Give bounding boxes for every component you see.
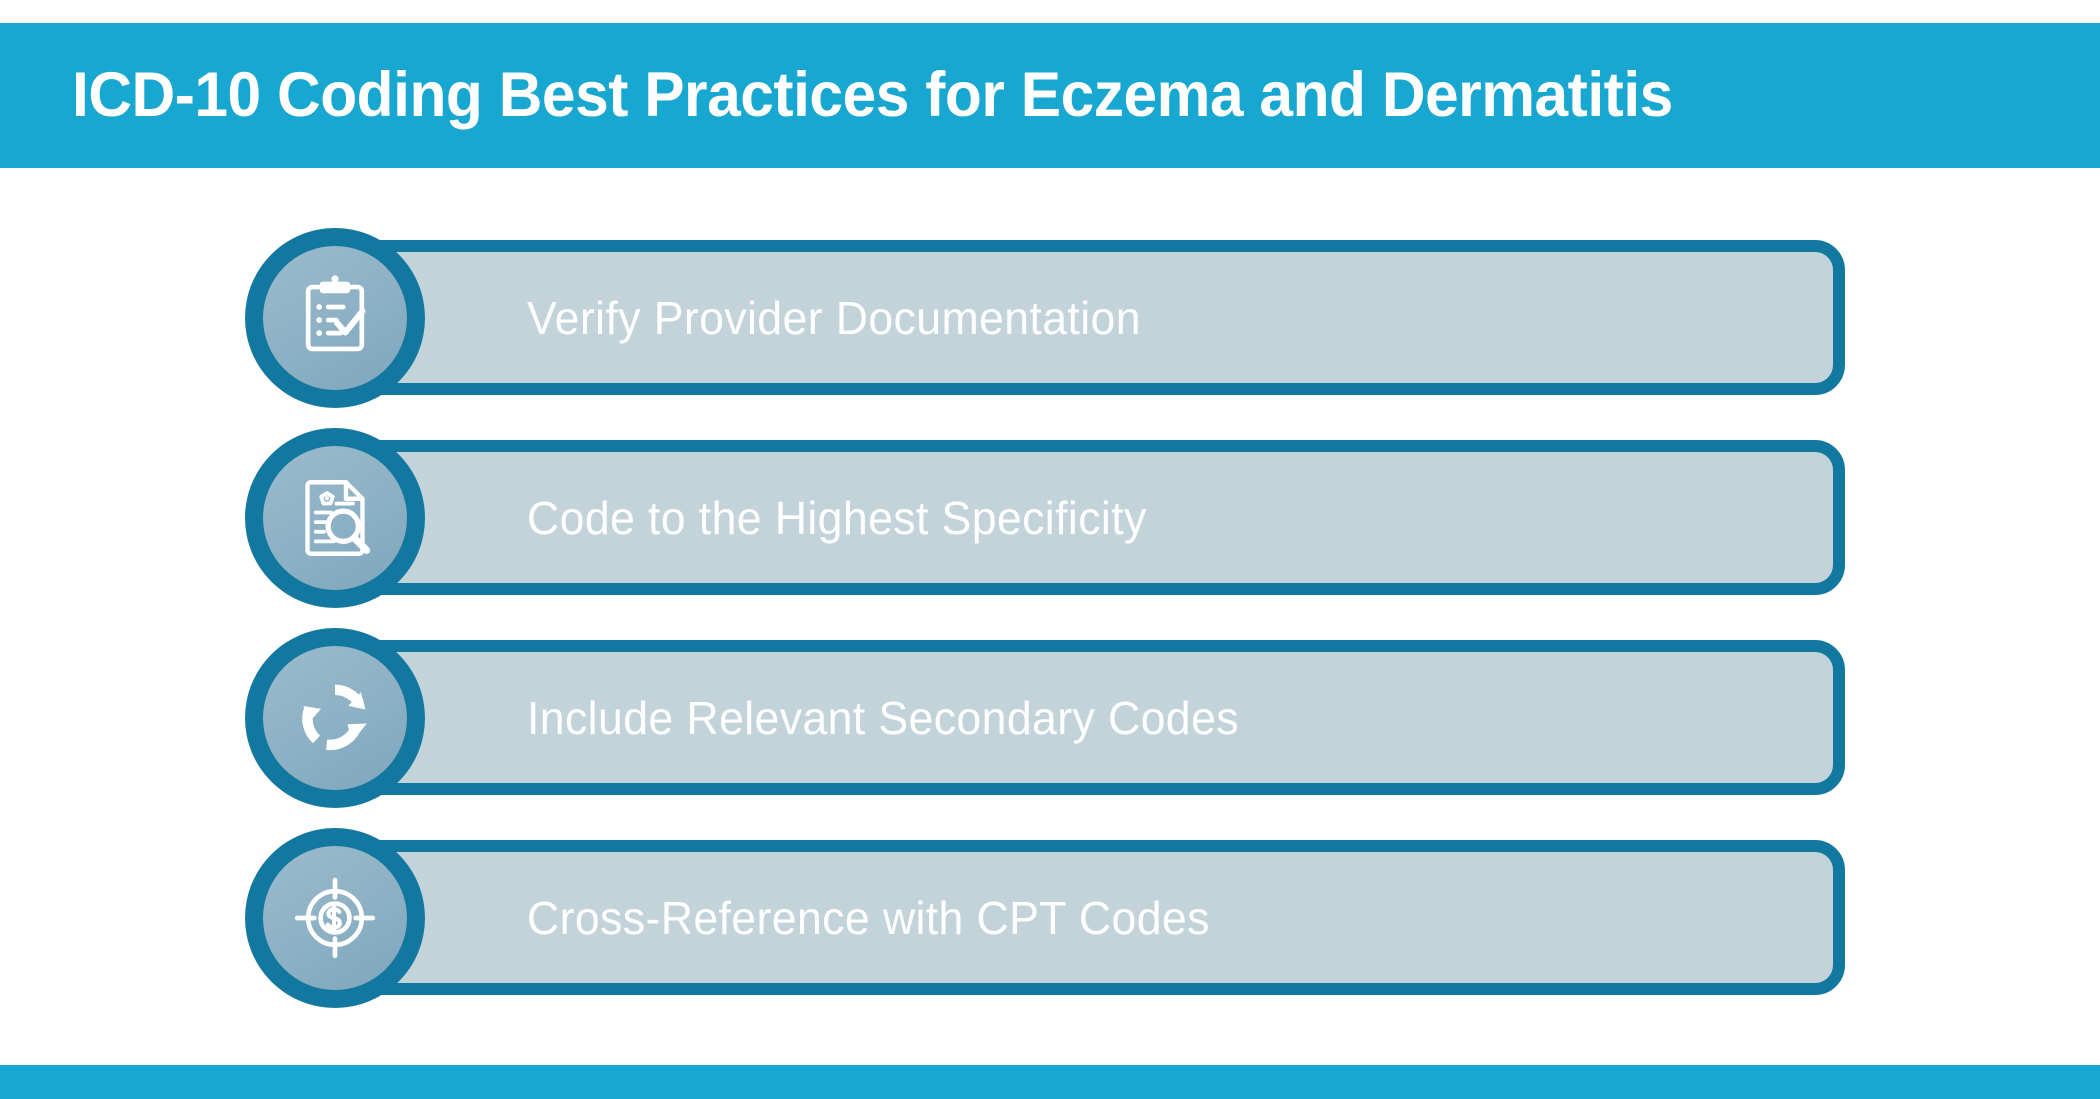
list-item-icon-disc bbox=[263, 846, 407, 990]
page-title: ICD-10 Coding Best Practices for Eczema … bbox=[72, 64, 1673, 127]
list-item[interactable]: Cross-Reference with CPT Codes bbox=[0, 828, 2100, 1028]
list-item-label: Cross-Reference with CPT Codes bbox=[527, 891, 1210, 945]
list-item-bar[interactable]: Verify Provider Documentation bbox=[330, 240, 1845, 395]
list-item-icon-circle bbox=[245, 828, 425, 1008]
footer-strip bbox=[0, 1065, 2100, 1099]
list-item-label: Verify Provider Documentation bbox=[527, 291, 1141, 345]
list-item-bar[interactable]: Include Relevant Secondary Codes bbox=[330, 640, 1845, 795]
list-item[interactable]: Verify Provider Documentation bbox=[0, 228, 2100, 428]
list-item-label: Code to the Highest Specificity bbox=[527, 491, 1147, 545]
list-item-label: Include Relevant Secondary Codes bbox=[527, 691, 1239, 745]
list-item-icon-circle bbox=[245, 228, 425, 408]
list-item-icon-circle bbox=[245, 628, 425, 808]
refresh-cycle-icon bbox=[291, 674, 379, 762]
infographic-page: ICD-10 Coding Best Practices for Eczema … bbox=[0, 0, 2100, 1099]
target-dollar-icon bbox=[291, 874, 379, 962]
list-item[interactable]: Code to the Highest Specificity bbox=[0, 428, 2100, 628]
list-item-bar[interactable]: Code to the Highest Specificity bbox=[330, 440, 1845, 595]
list-item[interactable]: Include Relevant Secondary Codes bbox=[0, 628, 2100, 828]
list-item-icon-disc bbox=[263, 446, 407, 590]
list-item-icon-disc bbox=[263, 246, 407, 390]
document-magnifier-icon bbox=[291, 474, 379, 562]
list-item-icon-disc bbox=[263, 646, 407, 790]
clipboard-check-icon bbox=[291, 274, 379, 362]
header-banner: ICD-10 Coding Best Practices for Eczema … bbox=[0, 23, 2100, 168]
best-practices-list: Verify Provider Documentation bbox=[0, 228, 2100, 1028]
list-item-bar[interactable]: Cross-Reference with CPT Codes bbox=[330, 840, 1845, 995]
list-item-icon-circle bbox=[245, 428, 425, 608]
